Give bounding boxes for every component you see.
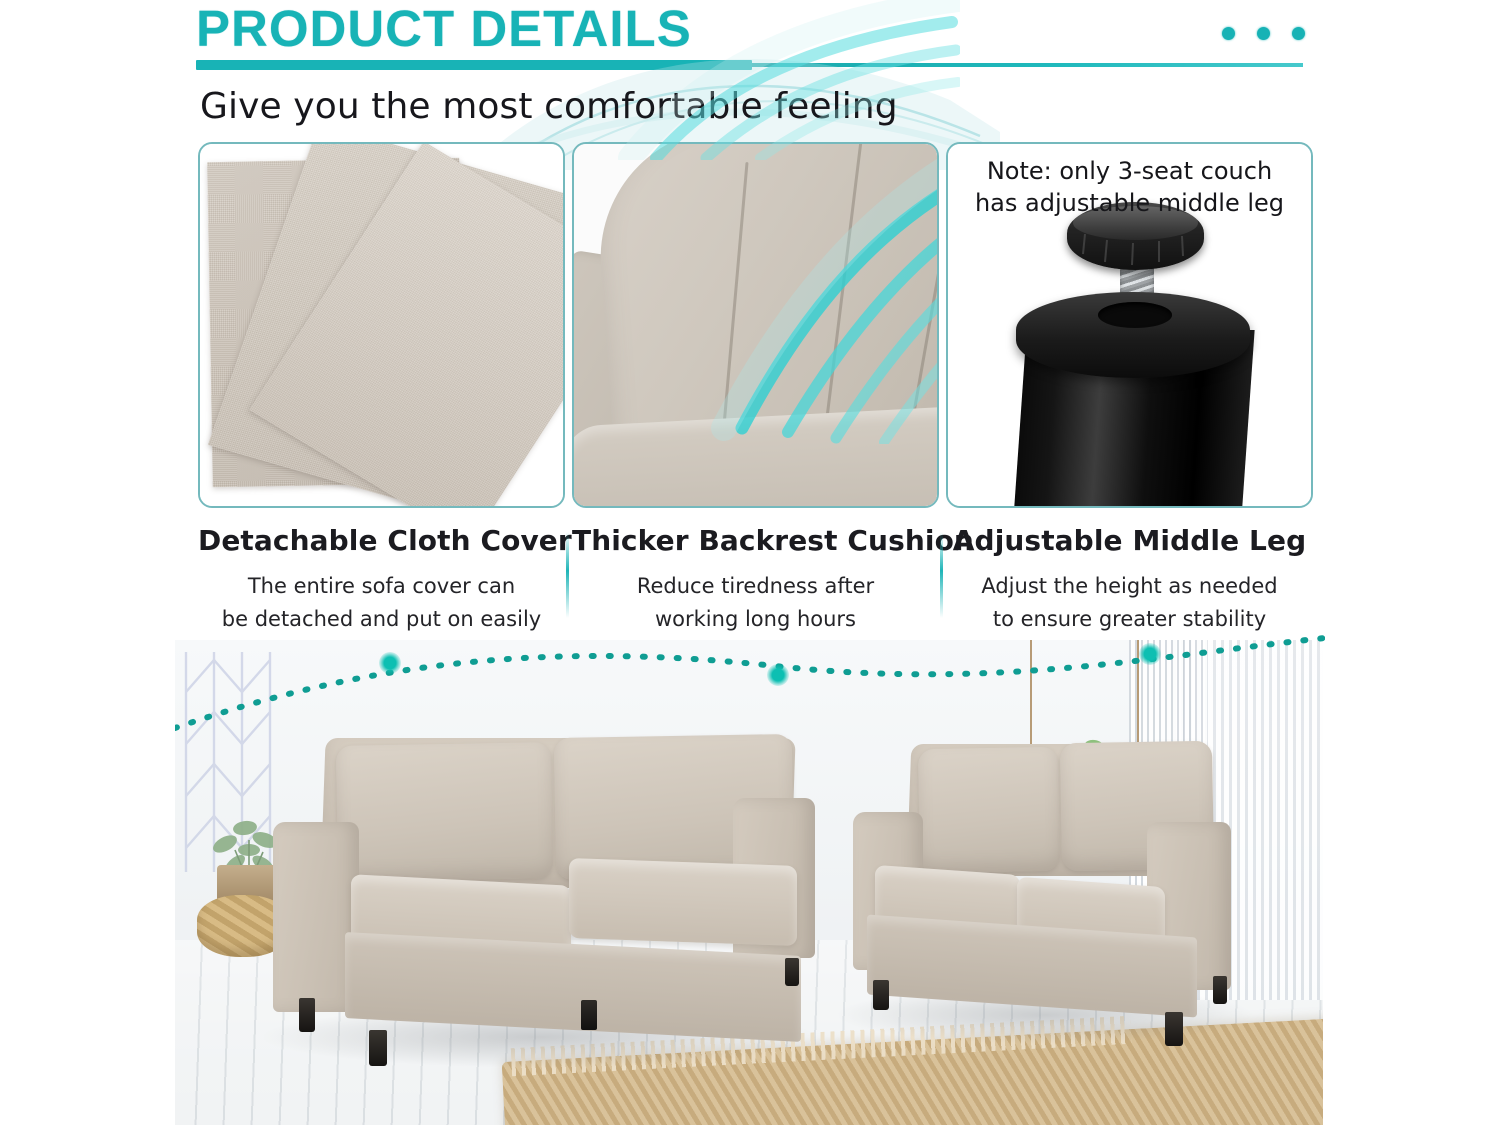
sofa-back-cushion-left [336,742,553,882]
note-line-2: has adjustable middle leg [948,188,1311,220]
sofa-leg-front-left [299,998,315,1032]
header-dot-icon [1292,27,1305,40]
loveseat-leg-left [873,980,889,1010]
title-rule-line [752,63,1303,67]
caption-line-2: working long hours [572,603,939,636]
header-dot-icon [1257,27,1270,40]
feature-panel-adjustable-middle-leg: Note: only 3-seat couch has adjustable m… [946,142,1313,508]
sofa-seat-cushion-right [569,858,797,946]
lifestyle-scene-photo [175,640,1323,1125]
caption-adjustable-middle-leg: Adjustable Middle Leg Adjust the height … [946,524,1313,635]
title-underline-bar [196,60,752,70]
three-seat-sofa [263,730,823,1060]
knob-ridges [1067,228,1204,272]
note-line-1: Note: only 3-seat couch [948,156,1311,188]
backrest-cushion-image [574,144,937,506]
caption-body: Reduce tiredness after working long hour… [572,570,939,635]
caption-thicker-backrest-cushion: Thicker Backrest Cushion Reduce tirednes… [572,524,939,635]
caption-heading: Thicker Backrest Cushion [572,524,939,557]
cushion-seam [719,162,748,461]
feature-panel-detachable-cloth-cover [198,142,565,508]
caption-heading: Detachable Cloth Cover [198,524,565,557]
loveseat-leg-front-right [1165,1012,1183,1046]
header-dot-icon [1222,27,1235,40]
caption-line-2: be detached and put on easily [198,603,565,636]
adjustable-leg-image: Note: only 3-seat couch has adjustable m… [948,144,1311,506]
sofa-adjustable-middle-leg [581,1000,597,1030]
caption-line-1: The entire sofa cover can [198,570,565,603]
leg-cap-hole [1098,302,1172,328]
page-title: PRODUCT DETAILS [196,2,692,56]
sofa-leg-front-center [369,1030,387,1066]
caption-heading: Adjustable Middle Leg [946,524,1313,557]
caption-body: The entire sofa cover can be detached an… [198,570,565,635]
header-dots-decoration [1222,27,1306,41]
caption-detachable-cloth-cover: Detachable Cloth Cover The entire sofa c… [198,524,565,635]
loveseat-leg-rear-right [1213,976,1227,1004]
caption-line-1: Reduce tiredness after [572,570,939,603]
subtitle: Give you the most comfortable feeling [200,86,898,127]
product-details-infographic: PRODUCT DETAILS Give you the most comfor… [0,0,1500,1125]
loveseat [845,730,1265,1045]
loveseat-back-cushion-left [918,747,1060,873]
caption-divider [940,532,943,618]
caption-line-1: Adjust the height as needed [946,570,1313,603]
cushion-seam [907,144,937,445]
caption-divider [566,532,569,618]
note-text: Note: only 3-seat couch has adjustable m… [948,156,1311,219]
caption-body: Adjust the height as needed to ensure gr… [946,570,1313,635]
caption-line-2: to ensure greater stability [946,603,1313,636]
cloth-cover-image [200,144,563,506]
feature-panel-thicker-backrest-cushion [572,142,939,508]
sofa-leg-rear-right [785,958,799,986]
